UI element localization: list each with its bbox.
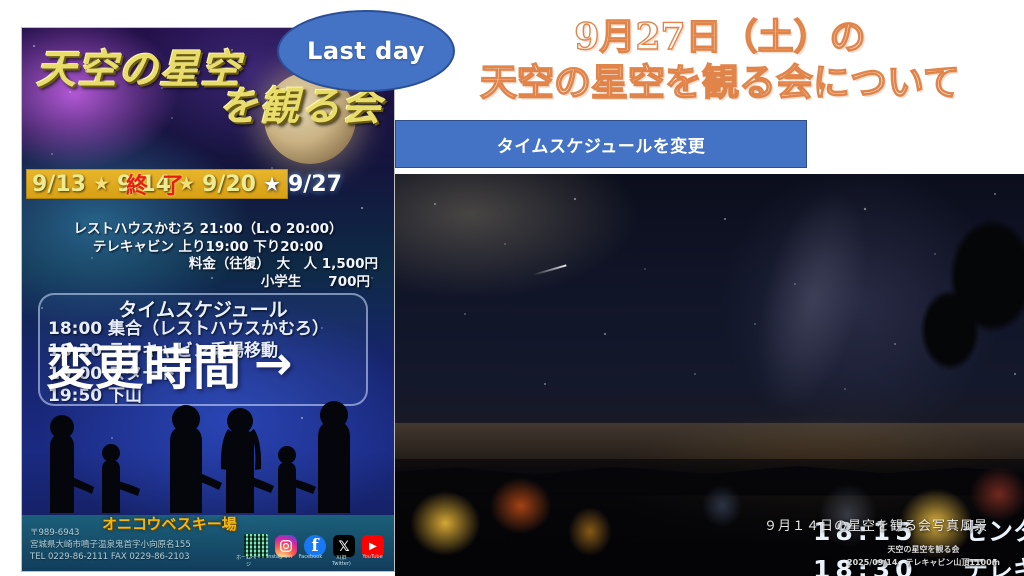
social-caption: Facebook [297, 554, 324, 568]
star-icon-3: ★ [263, 172, 281, 196]
poster-address-block: 〒989-6943 宮城県大崎市鳴子温泉鬼首字小向原名155 TEL 0229-… [30, 527, 216, 563]
social-caption: ホームページ [235, 554, 262, 568]
social-caption: X(旧Twitter) [328, 554, 355, 568]
poster-info-line-3: 料金（往復） 大 人 1,500円 [22, 256, 394, 274]
social-caption: YouTube [359, 554, 386, 568]
page-title: 9月27日（土）の 天空の星空を観る会について [430, 16, 1010, 105]
last-day-label: Last day [307, 37, 425, 65]
ended-stamp: 終了 [126, 168, 198, 200]
x-glyph: 𝕏 [338, 538, 349, 555]
poster-info-block: レストハウスかむろ 21:00（L.O 20:00） テレキャビン 上り19:0… [22, 221, 394, 291]
slide-canvas: 天空の星空 を観る会 9/13 ★ 9/14 ★ 9/20 ★ 9/27 終了 … [0, 0, 1024, 576]
family-silhouette-graphic [22, 385, 394, 513]
poster-address: 宮城県大崎市鳴子温泉鬼首字小向原名155 [30, 539, 216, 551]
right-arrow-icon: → [254, 340, 294, 386]
photo-credit: 天空の星空を観る会 2025/09/14 テレキャビン山頂1100m [847, 543, 1000, 570]
tree-silhouette-right [894, 204, 1024, 384]
photo-credit-line2: 2025/09/14 テレキャビン山頂1100m [847, 556, 1000, 570]
poster-footer-band: オニコウベスキー場 〒989-6943 宮城県大崎市鳴子温泉鬼首字小向原名155… [22, 515, 394, 571]
facebook-glyph: f [311, 536, 318, 556]
poster-date-row: 9/13 ★ 9/14 ★ 9/20 ★ 9/27 [26, 169, 390, 199]
poster-contact: TEL 0229-86-2111 FAX 0229-86-2103 [30, 551, 216, 563]
star-icon-1: ★ [93, 173, 110, 195]
poster-info-line-1: レストハウスかむろ 21:00（L.O 20:00） [22, 221, 394, 239]
photo-caption: ９月１４日の星空を観る会写真風景 [764, 515, 988, 534]
night-sky-photo: 18:15 センターキューブ集合 チケット販売 18:30 テレキャビン乗車山頂… [395, 174, 1024, 576]
meteor-streak [533, 264, 566, 275]
last-day-badge: Last day [277, 10, 455, 92]
photo-credit-line1: 天空の星空を観る会 [847, 543, 1000, 557]
poster-date-1: 9/13 [32, 172, 86, 197]
social-caption: Instagram [266, 554, 293, 568]
schedule-changed-banner-label: タイムスケジュールを変更 [497, 132, 705, 157]
page-title-line2: 天空の星空を観る会について [430, 60, 1010, 105]
page-title-line1: 9月27日（土）の [430, 16, 1010, 60]
poster-postal-code: 〒989-6943 [30, 527, 216, 539]
poster-info-line-4: 小学生 700円 [22, 274, 394, 292]
poster-info-line-2: テレキャビン 上り19:00 下り20:00 [22, 239, 394, 257]
schedule-changed-banner: タイムスケジュールを変更 [395, 120, 807, 168]
event-poster-image: 天空の星空 を観る会 9/13 ★ 9/14 ★ 9/20 ★ 9/27 終了 … [22, 28, 394, 571]
poster-date-3: 9/20 [202, 172, 256, 197]
poster-date-4: 9/27 [288, 172, 342, 197]
youtube-glyph: ▶ [369, 541, 377, 552]
poster-social-captions: ホームページ Instagram Facebook X(旧Twitter) Yo… [235, 554, 386, 568]
